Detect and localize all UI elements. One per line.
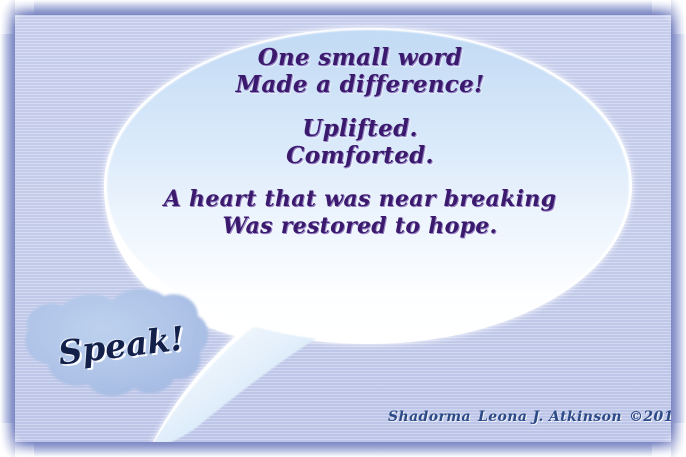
poem-line: Made a difference!	[130, 71, 590, 98]
poem-line: Uplifted.	[130, 115, 590, 142]
attribution-author: Leona J. Atkinson	[478, 409, 622, 425]
poem-stanza: Uplifted. Comforted.	[130, 115, 590, 169]
poem-stanza: One small word Made a difference!	[130, 44, 590, 98]
poem-poster: Speak!	[0, 0, 686, 457]
attribution-form: Shadorma	[388, 409, 471, 425]
poem-line: Comforted.	[130, 142, 590, 169]
poem-line: Was restored to hope.	[130, 213, 590, 240]
attribution-copyright: ©2014	[629, 409, 684, 425]
poem-line: A heart that was near breaking	[130, 186, 590, 213]
poem-line: One small word	[130, 44, 590, 71]
poem-stanza: A heart that was near breaking Was resto…	[130, 186, 590, 240]
attribution: ShadormaLeona J. Atkinson©2014	[388, 409, 684, 425]
poem-text: One small word Made a difference! Uplift…	[130, 44, 590, 240]
